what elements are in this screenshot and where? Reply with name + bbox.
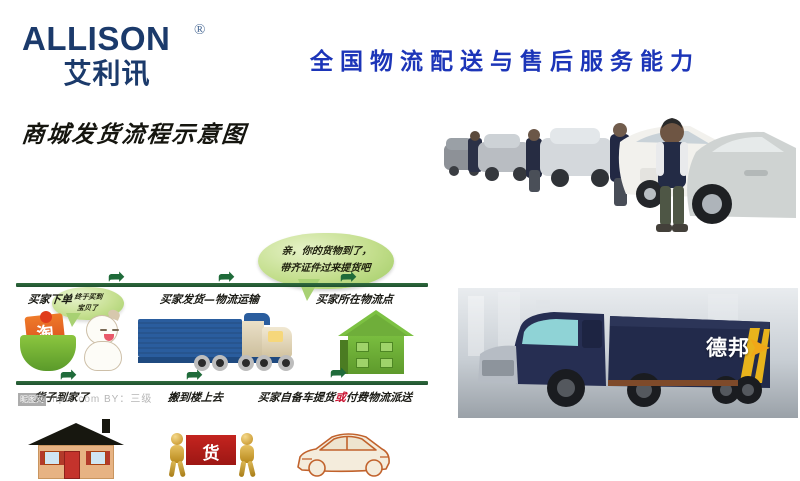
- flow-arrow-icon: ➦: [186, 365, 203, 385]
- baby-eye-left-icon: [100, 329, 107, 331]
- registered-trademark-icon: ®: [194, 22, 205, 39]
- buyer-character-icon: [80, 313, 128, 373]
- mover-leg-icon: [177, 461, 186, 478]
- company-logo: ALLISON ® 艾利讯: [22, 22, 222, 92]
- truck-cab-back-icon: [242, 321, 264, 357]
- truck-window-icon: [268, 331, 283, 342]
- delivery-notice-text: 亲，你的货物到了， 带齐证件过来提货吧: [257, 243, 396, 277]
- flow-arrow-icon: ➦: [108, 267, 125, 287]
- deppon-brand-label: 德邦: [706, 332, 750, 362]
- diagram-title: 商城发货流程示意图: [20, 115, 249, 149]
- mover-figure-icon: [166, 433, 188, 477]
- mover-leg-icon: [247, 461, 256, 478]
- flow-step-label-3: 买家所在物流点: [315, 291, 393, 307]
- flow-arrow-icon: ➦: [60, 365, 77, 385]
- house-window-icon: [356, 358, 369, 368]
- baby-body-icon: [84, 341, 122, 371]
- truck-wheel-icon: [278, 355, 294, 371]
- watermark-badge: 昵图网: [18, 393, 46, 406]
- house-window-icon: [44, 451, 60, 465]
- green-house-icon: [338, 310, 414, 376]
- sketch-car-icon: [290, 423, 396, 481]
- logo-wordmark: ALLISON: [22, 22, 222, 55]
- deppon-truck-photo: 德邦 ➤: [458, 288, 798, 418]
- cargo-box-icon: 货: [186, 435, 236, 465]
- flow-arrow-icon: ➦: [330, 363, 347, 383]
- flow-arrow-icon: ➦: [218, 267, 235, 287]
- flow-arrow-icon: ➦: [340, 267, 357, 287]
- flow-step-label-1: 买家下单: [27, 291, 72, 307]
- page-title: 全国物流配送与售后服务能力: [240, 42, 770, 76]
- watermark-text: nipic.com BY：三级: [49, 394, 152, 405]
- truck-wheel-icon: [256, 355, 272, 371]
- fleet-vehicles-photo: [444, 108, 796, 258]
- cart-ribbon-icon: [40, 311, 52, 323]
- house-roof-inner-icon: [344, 314, 408, 336]
- home-house-icon: [30, 423, 122, 481]
- house-window-icon: [356, 342, 369, 352]
- slide-root: ALLISON ® 艾利讯 全国物流配送与售后服务能力 商城发货流程示意图 亲，…: [0, 0, 800, 450]
- baby-mouth-icon: [104, 334, 114, 341]
- house-window-icon: [380, 358, 393, 368]
- mover-leg-icon: [239, 461, 247, 478]
- truck-wheel-icon: [238, 355, 254, 371]
- mover-leg-icon: [169, 461, 177, 478]
- flow-step-label-2: 买家发货—物流运输: [159, 291, 259, 307]
- mover-figure-icon: [236, 433, 258, 477]
- semi-truck-icon: [138, 317, 298, 375]
- mover-head-icon: [241, 433, 253, 445]
- house-window-icon: [380, 342, 393, 352]
- flow-baseline-row2: [16, 381, 428, 385]
- deppon-swoosh-icon: ➤: [748, 334, 770, 360]
- house-door-icon: [64, 451, 80, 479]
- house-shutter-icon: [106, 451, 110, 465]
- baby-eye-right-icon: [112, 329, 119, 331]
- house-window-icon: [90, 451, 106, 465]
- shipping-flow-diagram: 商城发货流程示意图 亲，你的货物到了， 带齐证件过来提货吧 终于买到 宝贝了 淘: [0, 105, 440, 425]
- cargo-box-label: 货: [186, 439, 236, 464]
- logo-chinese-name: 艾利讯: [22, 59, 192, 88]
- movers-icon: 货: [160, 427, 264, 481]
- house-roof-icon: [28, 423, 124, 445]
- mover-head-icon: [171, 433, 183, 445]
- truck-trailer-icon: [138, 319, 242, 357]
- truck-wheel-icon: [212, 355, 228, 371]
- stock-photo-watermark: 昵图网nipic.com BY：三级: [18, 390, 438, 406]
